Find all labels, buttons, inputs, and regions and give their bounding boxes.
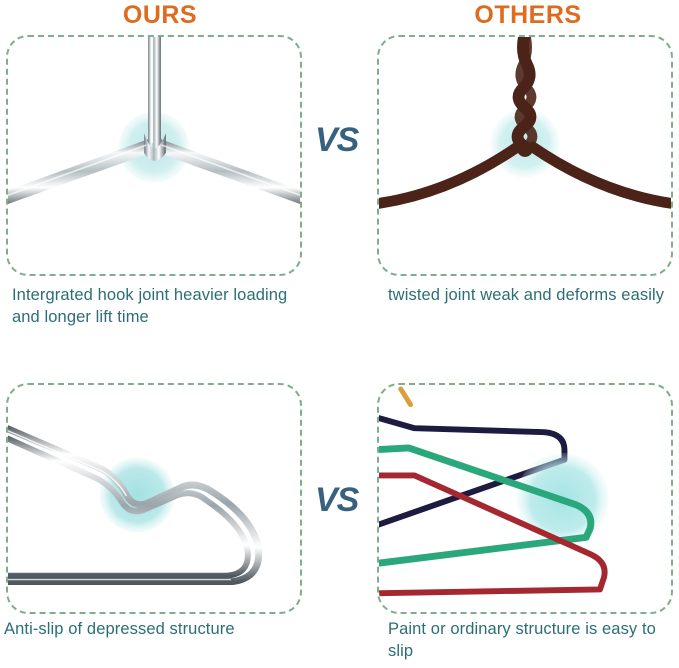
right-shoulder-wire — [533, 147, 671, 204]
hook-shaft — [148, 37, 161, 149]
joint-node — [517, 141, 533, 157]
column-header-others: OTHERS — [428, 0, 628, 30]
left-shoulder-wire — [379, 147, 517, 204]
comparison-infographic: OURS OTHERS — [0, 0, 679, 668]
tan-hook-fragment — [401, 389, 411, 405]
inner-shoulder-wire — [8, 436, 248, 576]
vs-badge-bottom: VS — [315, 483, 358, 517]
painted-hangers-illustration — [379, 385, 671, 612]
panel-others-twisted-joint — [377, 35, 673, 276]
caption-others-twisted-joint: twisted joint weak and deforms easily — [388, 284, 679, 306]
panel-ours-depressed-structure — [6, 383, 302, 614]
panel-ours-hook-joint — [6, 35, 302, 276]
caption-ours-hook-joint: Intergrated hook joint heavier loading a… — [12, 284, 312, 328]
column-header-ours: OURS — [60, 0, 260, 30]
outer-shoulder-wire — [8, 426, 259, 581]
right-arm — [159, 139, 300, 206]
left-arm — [8, 139, 150, 206]
wire-hanger-twist-illustration — [379, 37, 671, 274]
vs-badge-top: VS — [315, 123, 358, 157]
caption-others-easy-slip: Paint or ordinary structure is easy to s… — [388, 618, 678, 662]
chrome-hanger-joint-illustration — [8, 37, 300, 274]
caption-ours-anti-slip: Anti-slip of depressed structure — [4, 618, 314, 640]
panel-others-painted-hangers — [377, 383, 673, 614]
chrome-hanger-shoulder-illustration — [8, 385, 300, 612]
